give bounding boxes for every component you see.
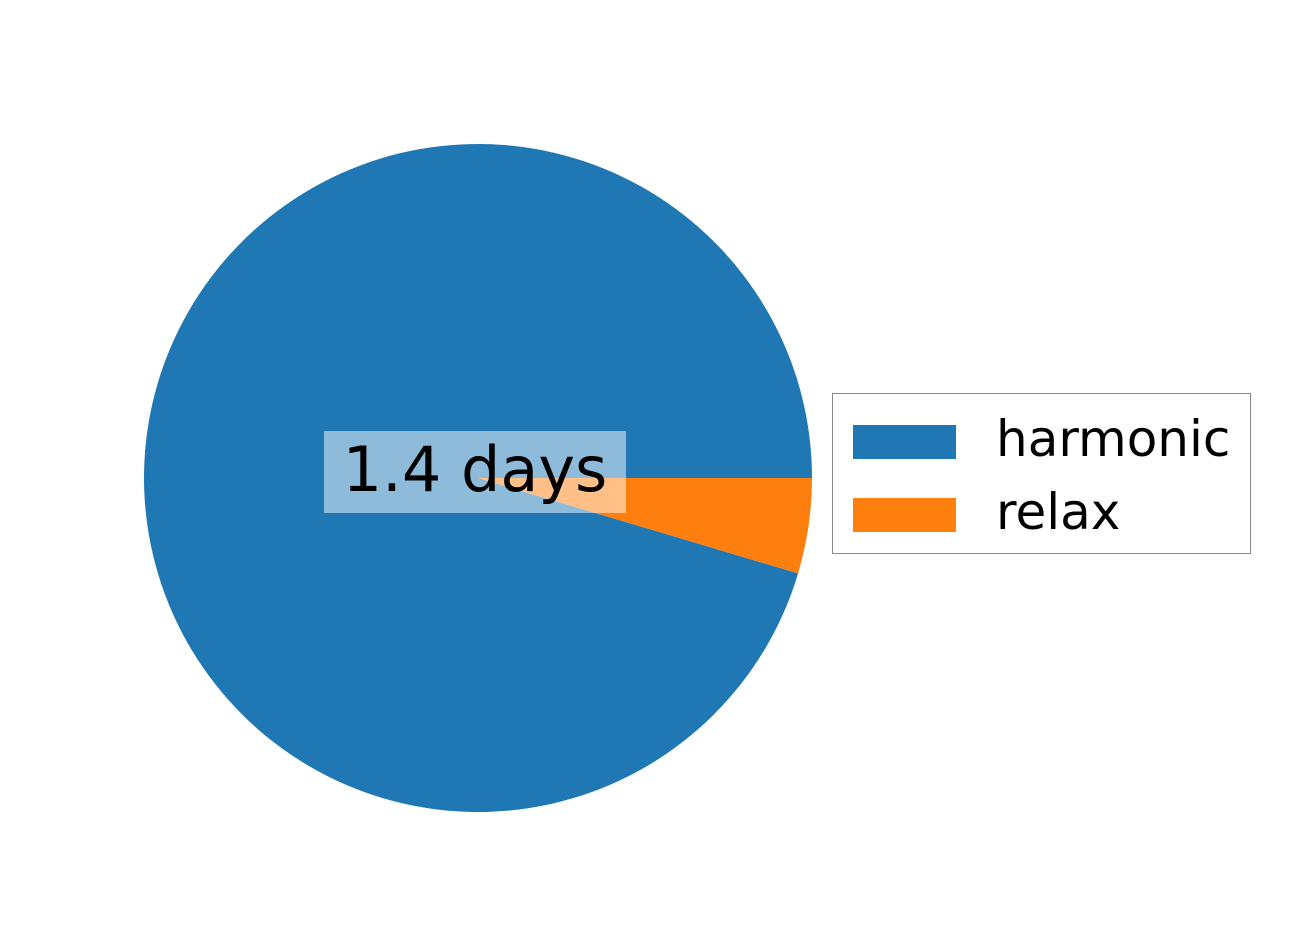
legend-item-harmonic[interactable]: harmonic [833, 405, 1250, 479]
figure-canvas: 1.4 days harmonic relax [0, 0, 1307, 951]
legend-label-relax: relax [996, 487, 1120, 537]
legend: harmonic relax [832, 393, 1251, 554]
legend-swatch-harmonic [853, 425, 956, 459]
legend-label-harmonic: harmonic [996, 414, 1230, 464]
legend-swatch-relax [853, 498, 956, 532]
pie-slice-label-harmonic: 1.4 days [324, 431, 626, 513]
legend-item-relax[interactable]: relax [833, 478, 1250, 552]
